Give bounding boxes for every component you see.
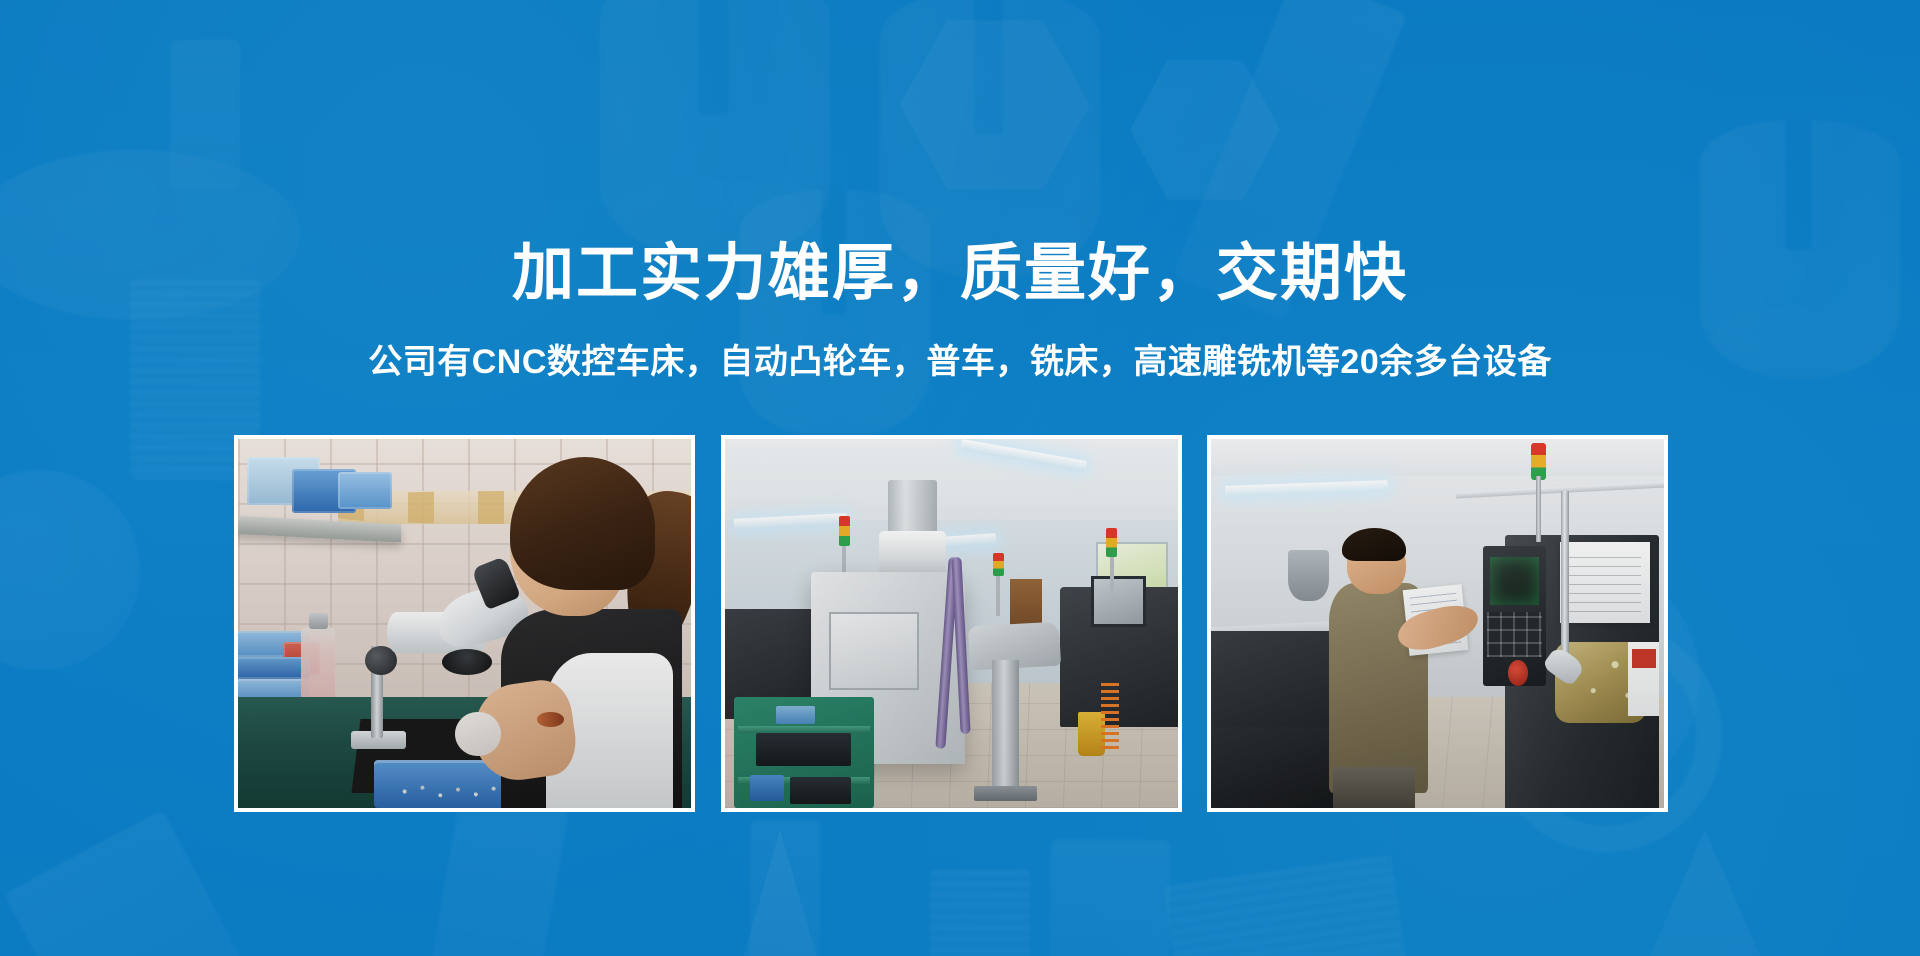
bar-feeder-base: [1211, 727, 1347, 808]
cnc-machine-door-panel: [829, 612, 920, 689]
gallery-photo-cnc-operator[interactable]: [1207, 435, 1668, 812]
cart-parts-bin: [750, 775, 784, 802]
promo-banner: 加工实力雄厚，质量好，交期快 公司有CNC数控车床，自动凸轮车，普车，铣床，高速…: [0, 0, 1920, 956]
cart-shelf: [738, 726, 870, 733]
page-subtitle: 公司有CNC数控车床，自动凸轮车，普车，铣床，高速雕铣机等20余多台设备: [0, 342, 1920, 383]
dust-collector: [1288, 550, 1329, 602]
cart-tool-tray: [756, 733, 851, 766]
operator-pants: [1333, 767, 1415, 808]
cart-parts-bin: [776, 706, 815, 724]
cart-tool-tray: [790, 777, 852, 804]
signal-tower-light: [1106, 528, 1117, 558]
vertical-pipe: [1561, 491, 1569, 661]
signal-tower-pole: [1536, 476, 1541, 542]
cnc-keypad: [1487, 612, 1541, 656]
conveyor-base: [974, 786, 1037, 801]
photo-1-scene: [238, 439, 691, 808]
storage-basket: [338, 472, 392, 509]
signal-tower-light: [1531, 443, 1546, 480]
conveyor-leg: [992, 660, 1019, 785]
storage-basket: [238, 657, 310, 679]
worker-bracelet: [537, 712, 564, 727]
cnc-display-screen: [1490, 557, 1540, 605]
gallery-photo-quality-inspection[interactable]: [234, 435, 695, 812]
photo-2-scene: [725, 439, 1178, 808]
signal-tower-light: [993, 553, 1004, 575]
signal-tower-light: [839, 516, 850, 546]
worker-gloved-hand: [455, 712, 500, 756]
safety-notice-label: [1628, 642, 1660, 716]
photo-gallery: [234, 435, 1668, 812]
microscope-objective: [442, 649, 492, 675]
tool-cart: [734, 697, 874, 808]
metal-parts-pile: [392, 782, 519, 800]
air-hose-coil: [1101, 683, 1119, 749]
cnc-control-screen: [1091, 576, 1145, 628]
page-title: 加工实力雄厚，质量好，交期快: [0, 243, 1920, 305]
water-bottle: [301, 627, 335, 708]
posted-drawing: [1560, 542, 1651, 623]
banner-content: 加工实力雄厚，质量好，交期快 公司有CNC数控车床，自动凸轮车，普车，铣床，高速…: [0, 0, 1920, 956]
photo-3-scene: [1211, 439, 1664, 808]
gallery-photo-cnc-workshop[interactable]: [721, 435, 1182, 812]
